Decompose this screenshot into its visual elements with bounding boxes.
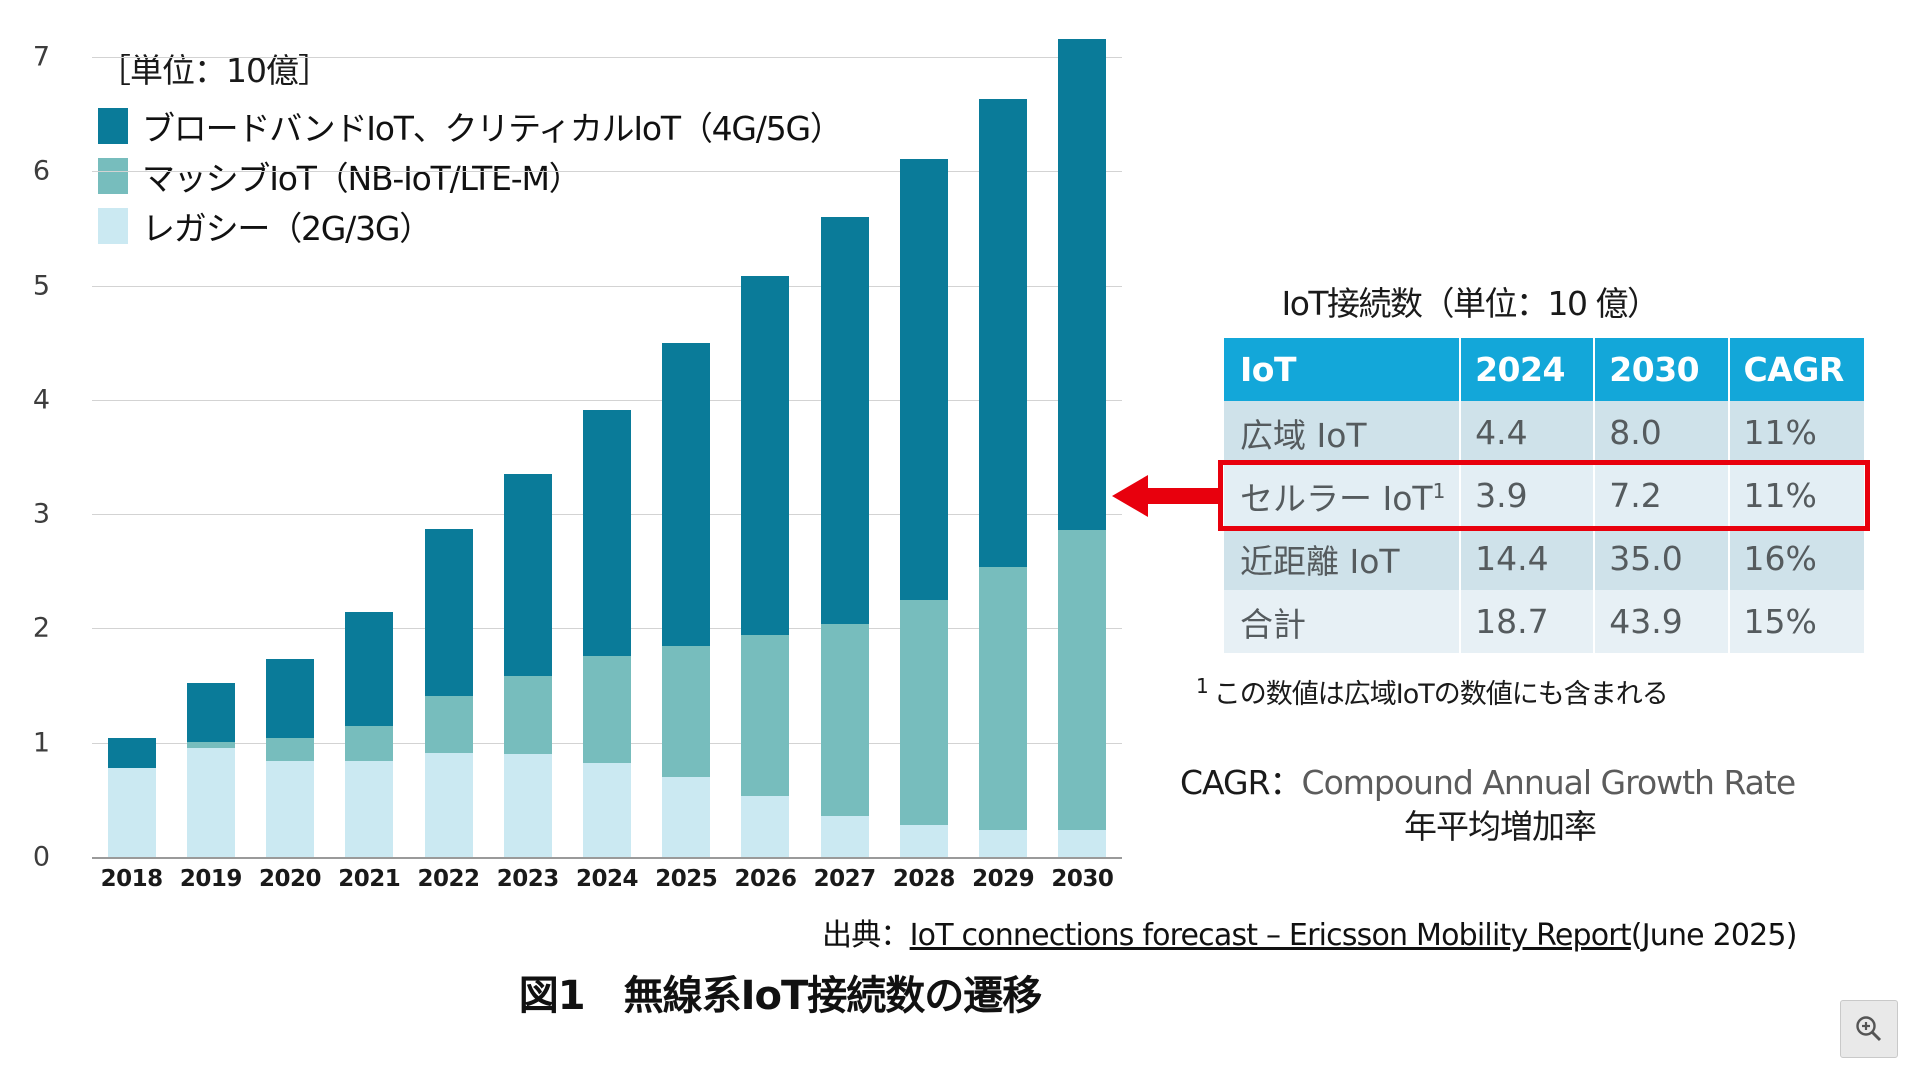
bar-segment: [425, 753, 473, 857]
source-link[interactable]: IoT connections forecast – Ericsson Mobi…: [910, 918, 1631, 953]
bar-series-container: [92, 57, 1122, 857]
x-axis-label-2027: 2027: [805, 866, 885, 892]
bar-column-2029: [979, 99, 1027, 857]
x-axis-label-2023: 2023: [488, 866, 568, 892]
slide-root: ［単位：10億］ ブロードバンドIoT、クリティカルIoT（4G/5G） マッシ…: [0, 0, 1920, 1080]
y-axis-tick-label: 1: [0, 743, 50, 774]
cagr-japanese: 年平均増加率: [1404, 800, 1596, 848]
x-axis-label-2019: 2019: [171, 866, 251, 892]
bar-segment: [900, 825, 948, 857]
cell-category: セルラー IoT1: [1224, 464, 1459, 527]
cell-2024: 3.9: [1459, 464, 1593, 527]
x-axis-label-2026: 2026: [725, 866, 805, 892]
column-header-2024: 2024: [1459, 338, 1593, 401]
cagr-key: CAGR：: [1180, 763, 1302, 802]
x-axis-label-2029: 2029: [963, 866, 1043, 892]
bar-segment: [662, 343, 710, 646]
bar-segment: [821, 816, 869, 857]
x-axis-line: [92, 857, 1122, 859]
bar-column-2025: [662, 343, 710, 857]
x-axis-label-2022: 2022: [409, 866, 489, 892]
bar-segment: [741, 276, 789, 635]
bar-segment: [900, 159, 948, 600]
x-axis-label-2028: 2028: [884, 866, 964, 892]
bar-segment: [1058, 530, 1106, 829]
magnifier-plus-icon: [1853, 1013, 1885, 1045]
bar-segment: [741, 635, 789, 796]
bar-segment: [583, 410, 631, 656]
x-axis-label-2020: 2020: [250, 866, 330, 892]
bar-segment: [108, 768, 156, 857]
cell-2024: 4.4: [1459, 401, 1593, 464]
bar-segment: [741, 796, 789, 857]
table-row: 広域 IoT4.48.011%: [1224, 401, 1864, 464]
bar-column-2020: [266, 659, 314, 857]
cell-2024: 18.7: [1459, 590, 1593, 653]
cell-category: 広域 IoT: [1224, 401, 1459, 464]
x-axis-label-2018: 2018: [92, 866, 172, 892]
bar-segment: [504, 754, 552, 857]
x-axis-labels: 2018201920202021202220232024202520262027…: [92, 866, 1122, 906]
cell-cagr: 15%: [1728, 590, 1865, 653]
bar-segment: [979, 99, 1027, 566]
bar-segment: [504, 676, 552, 754]
x-axis-label-2025: 2025: [646, 866, 726, 892]
cell-2030: 7.2: [1593, 464, 1727, 527]
bar-segment: [821, 624, 869, 816]
source-line: 出典：IoT connections forecast – Ericsson M…: [822, 910, 1797, 954]
bar-segment: [345, 761, 393, 857]
table-header-row: IoT 2024 2030 CAGR: [1224, 338, 1864, 401]
column-header-2030: 2030: [1593, 338, 1727, 401]
y-axis-tick-label: 2: [0, 628, 50, 659]
bar-segment: [266, 761, 314, 857]
bar-segment: [662, 777, 710, 857]
cell-2024: 14.4: [1459, 527, 1593, 590]
cell-category: 近距離 IoT: [1224, 527, 1459, 590]
bar-column-2024: [583, 410, 631, 857]
bar-segment: [979, 830, 1027, 857]
bar-column-2019: [187, 683, 235, 857]
table-row: 合計18.743.915%: [1224, 590, 1864, 653]
bar-column-2023: [504, 474, 552, 857]
cell-cagr: 16%: [1728, 527, 1865, 590]
bar-segment: [425, 696, 473, 753]
bar-segment: [108, 738, 156, 768]
y-axis-tick-label: 0: [0, 857, 50, 888]
table-footnote: 1この数値は広域IoTの数値にも含まれる: [1196, 672, 1668, 711]
x-axis-label-2030: 2030: [1042, 866, 1122, 892]
bar-segment: [1058, 39, 1106, 530]
bar-segment: [979, 567, 1027, 830]
bar-segment: [504, 474, 552, 676]
footnote-superscript: 1: [1433, 479, 1446, 503]
y-axis-tick-label: 7: [0, 57, 50, 88]
bar-segment: [345, 726, 393, 761]
bar-column-2030: [1058, 39, 1106, 857]
bar-segment: [266, 738, 314, 761]
footnote-text: この数値は広域IoTの数値にも含まれる: [1214, 679, 1668, 710]
footnote-mark: 1: [1196, 674, 1208, 698]
cell-2030: 43.9: [1593, 590, 1727, 653]
bar-segment: [583, 763, 631, 857]
bar-segment: [821, 217, 869, 624]
x-axis-label-2024: 2024: [567, 866, 647, 892]
table-row: セルラー IoT13.97.211%: [1224, 464, 1864, 527]
bar-segment: [187, 742, 235, 749]
bar-column-2018: [108, 738, 156, 857]
cell-2030: 35.0: [1593, 527, 1727, 590]
cell-cagr: 11%: [1728, 464, 1865, 527]
source-suffix: (June 2025): [1631, 918, 1797, 953]
bar-segment: [900, 600, 948, 825]
bar-segment: [187, 748, 235, 857]
cell-cagr: 11%: [1728, 401, 1865, 464]
bar-segment: [583, 656, 631, 763]
bar-segment: [1058, 830, 1106, 857]
bar-segment: [187, 683, 235, 741]
bar-column-2026: [741, 276, 789, 857]
cagr-value: Compound Annual Growth Rate: [1302, 763, 1796, 802]
bar-column-2027: [821, 217, 869, 857]
column-header-cagr: CAGR: [1728, 338, 1865, 401]
cagr-definition: CAGR：Compound Annual Growth Rate: [1180, 756, 1795, 804]
red-arrow-icon: [1112, 475, 1222, 517]
bar-column-2021: [345, 612, 393, 857]
cell-category: 合計: [1224, 590, 1459, 653]
figure-caption: 図1 無線系IoT接続数の遷移: [0, 963, 1560, 1021]
zoom-in-button[interactable]: [1840, 1000, 1898, 1058]
bar-segment: [266, 659, 314, 738]
table-body: 広域 IoT4.48.011%セルラー IoT13.97.211%近距離 IoT…: [1224, 401, 1864, 653]
y-axis-tick-label: 6: [0, 171, 50, 202]
y-axis-tick-label: 3: [0, 514, 50, 545]
table-title: IoT接続数（単位：10 億）: [1230, 277, 1710, 325]
column-header-iot: IoT: [1224, 338, 1459, 401]
y-axis-tick-label: 4: [0, 400, 50, 431]
bar-segment: [425, 529, 473, 696]
iot-connections-table: IoT 2024 2030 CAGR 広域 IoT4.48.011%セルラー I…: [1224, 338, 1864, 653]
bar-segment: [662, 646, 710, 777]
bar-column-2022: [425, 529, 473, 857]
x-axis-label-2021: 2021: [329, 866, 409, 892]
cell-2030: 8.0: [1593, 401, 1727, 464]
bar-segment: [345, 612, 393, 725]
plot-area: 01234567: [92, 57, 1122, 857]
table-row: 近距離 IoT14.435.016%: [1224, 527, 1864, 590]
bar-column-2028: [900, 159, 948, 857]
y-axis-tick-label: 5: [0, 286, 50, 317]
source-prefix: 出典：: [822, 918, 910, 953]
